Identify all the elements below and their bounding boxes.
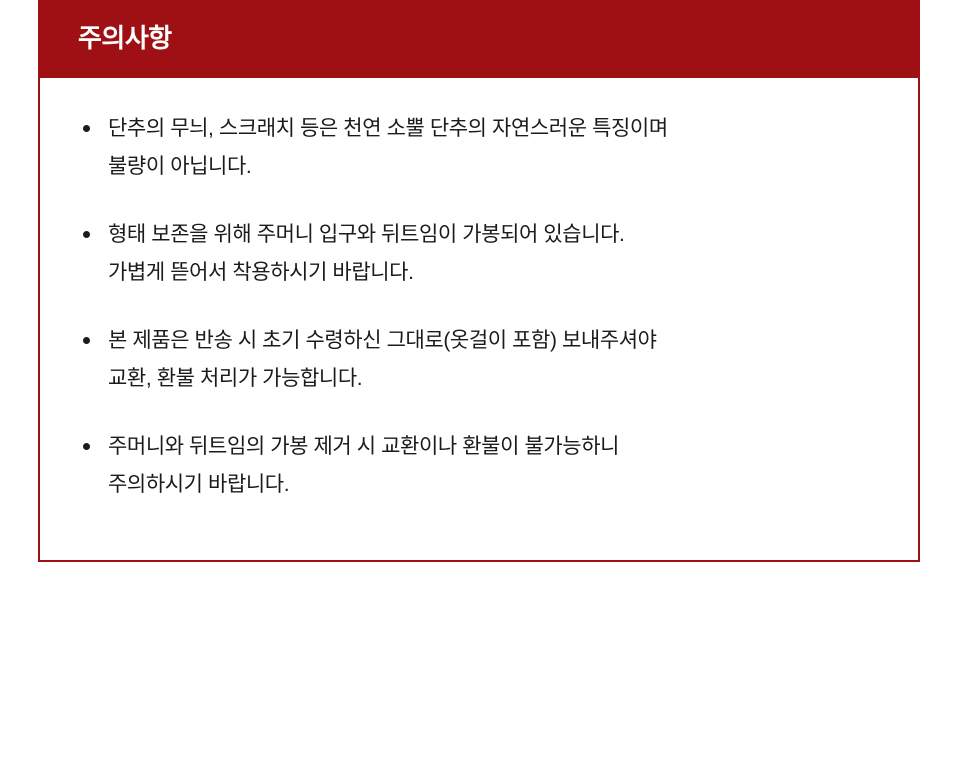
bullet-dot-icon xyxy=(83,231,90,238)
notice-text-line: 교환, 환불 처리가 가능합니다. xyxy=(108,360,888,398)
page-title: 주의사항 xyxy=(78,25,172,51)
list-item: 단추의 무늬, 스크래치 등은 천연 소뿔 단추의 자연스러운 특징이며 불량이… xyxy=(74,110,888,186)
notice-text-line: 가볍게 뜯어서 착용하시기 바랍니다. xyxy=(108,254,888,292)
notice-text-line: 주의하시기 바랍니다. xyxy=(108,466,888,504)
bullet-dot-icon xyxy=(83,443,90,450)
bullet-dot-icon xyxy=(83,125,90,132)
notice-text-line: 형태 보존을 위해 주머니 입구와 뒤트임이 가봉되어 있습니다. xyxy=(108,216,888,254)
notice-list: 단추의 무늬, 스크래치 등은 천연 소뿔 단추의 자연스러운 특징이며 불량이… xyxy=(74,110,888,504)
notice-text-line: 본 제품은 반송 시 초기 수령하신 그대로(옷걸이 포함) 보내주셔야 xyxy=(108,322,888,360)
notice-body: 단추의 무늬, 스크래치 등은 천연 소뿔 단추의 자연스러운 특징이며 불량이… xyxy=(38,78,920,562)
list-item: 본 제품은 반송 시 초기 수령하신 그대로(옷걸이 포함) 보내주셔야 교환,… xyxy=(74,322,888,398)
list-item: 주머니와 뒤트임의 가봉 제거 시 교환이나 환불이 불가능하니 주의하시기 바… xyxy=(74,428,888,504)
notice-header-bar: 주의사항 xyxy=(38,0,920,78)
notice-text-line: 주머니와 뒤트임의 가봉 제거 시 교환이나 환불이 불가능하니 xyxy=(108,428,888,466)
bullet-dot-icon xyxy=(83,337,90,344)
list-item: 형태 보존을 위해 주머니 입구와 뒤트임이 가봉되어 있습니다. 가볍게 뜯어… xyxy=(74,216,888,292)
notice-text-line: 불량이 아닙니다. xyxy=(108,148,888,186)
notice-panel: 주의사항 단추의 무늬, 스크래치 등은 천연 소뿔 단추의 자연스러운 특징이… xyxy=(38,0,920,562)
notice-text-line: 단추의 무늬, 스크래치 등은 천연 소뿔 단추의 자연스러운 특징이며 xyxy=(108,110,888,148)
